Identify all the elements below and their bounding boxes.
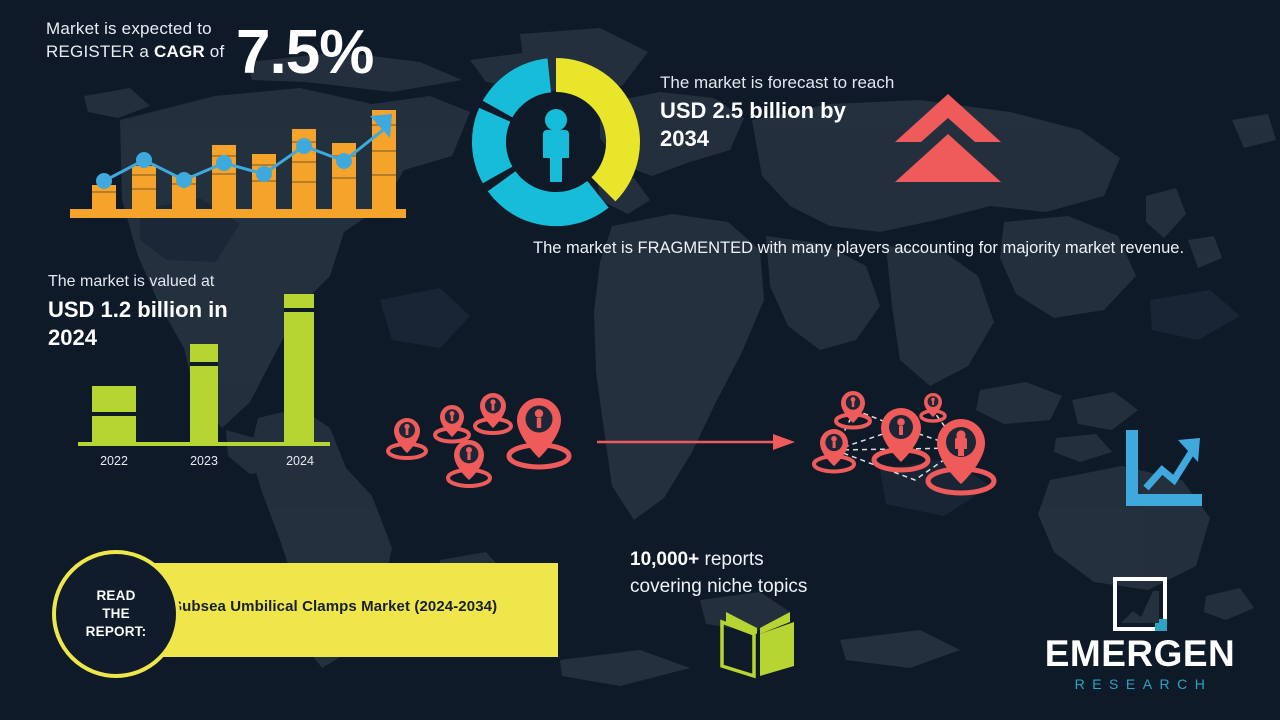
bar-2023 bbox=[190, 344, 218, 442]
read-line3: REPORT: bbox=[86, 624, 147, 639]
person-icon bbox=[543, 109, 569, 182]
market-value-subtitle: The market is valued at bbox=[48, 272, 278, 293]
reports-line2: covering niche topics bbox=[630, 576, 807, 597]
emergen-research-logo: EMERGEN RESEARCH bbox=[1020, 575, 1260, 692]
logo-mark-icon bbox=[1111, 575, 1169, 633]
cagr-label-line2-post: of bbox=[205, 42, 225, 61]
reports-line1-rest: reports bbox=[699, 549, 763, 570]
report-title: Subsea Umbilical Clamps Market (2024-203… bbox=[172, 598, 497, 615]
trend-line-overlay bbox=[70, 88, 410, 218]
read-the-report-label: READ THE REPORT: bbox=[86, 587, 147, 641]
reports-count-text: 10,000+ reports covering niche topics bbox=[630, 547, 910, 601]
forecast-subtitle: The market is forecast to reach bbox=[660, 72, 895, 94]
cagr-label-line1: Market is expected to bbox=[46, 19, 212, 38]
read-the-report-badge[interactable]: READ THE REPORT: bbox=[52, 550, 180, 678]
open-book-icon bbox=[714, 608, 804, 680]
fragmented-statement: The market is FRAGMENTED with many playe… bbox=[533, 237, 1223, 261]
growth-trend-bar-chart bbox=[70, 88, 410, 218]
logo-subtitle: RESEARCH bbox=[1020, 676, 1260, 692]
chart-axis bbox=[78, 442, 330, 446]
read-line2: THE bbox=[102, 606, 130, 621]
logo-wordmark: EMERGEN bbox=[1020, 635, 1260, 672]
arrow-right-icon bbox=[597, 432, 797, 452]
bar-2024 bbox=[284, 294, 314, 442]
infographic-canvas: Market is expected to REGISTER a CAGR of… bbox=[0, 0, 1280, 720]
forecast-value: USD 2.5 billion by 2034 bbox=[660, 97, 895, 153]
bar-2022 bbox=[92, 386, 136, 442]
map-pin-cluster-connected bbox=[805, 388, 1015, 498]
bar-label-2023: 2023 bbox=[172, 454, 236, 468]
cagr-label: Market is expected to REGISTER a CAGR of bbox=[46, 18, 246, 64]
reports-count: 10,000+ bbox=[630, 549, 699, 570]
double-chevron-up-icon bbox=[893, 92, 1003, 184]
bar-label-2024: 2024 bbox=[268, 454, 332, 468]
read-line1: READ bbox=[96, 588, 135, 603]
cagr-keyword: CAGR bbox=[154, 42, 205, 61]
cagr-value: 7.5% bbox=[236, 22, 373, 84]
map-pin-cluster-scattered bbox=[385, 388, 575, 493]
cagr-label-line2-pre: REGISTER a bbox=[46, 42, 154, 61]
bar-label-2022: 2022 bbox=[82, 454, 146, 468]
market-value-bar-chart: 2022 2023 2024 bbox=[78, 296, 338, 468]
growth-chart-arrow-icon bbox=[1122, 428, 1204, 510]
market-share-donut bbox=[468, 54, 644, 230]
forecast-block: The market is forecast to reach USD 2.5 … bbox=[660, 72, 895, 153]
